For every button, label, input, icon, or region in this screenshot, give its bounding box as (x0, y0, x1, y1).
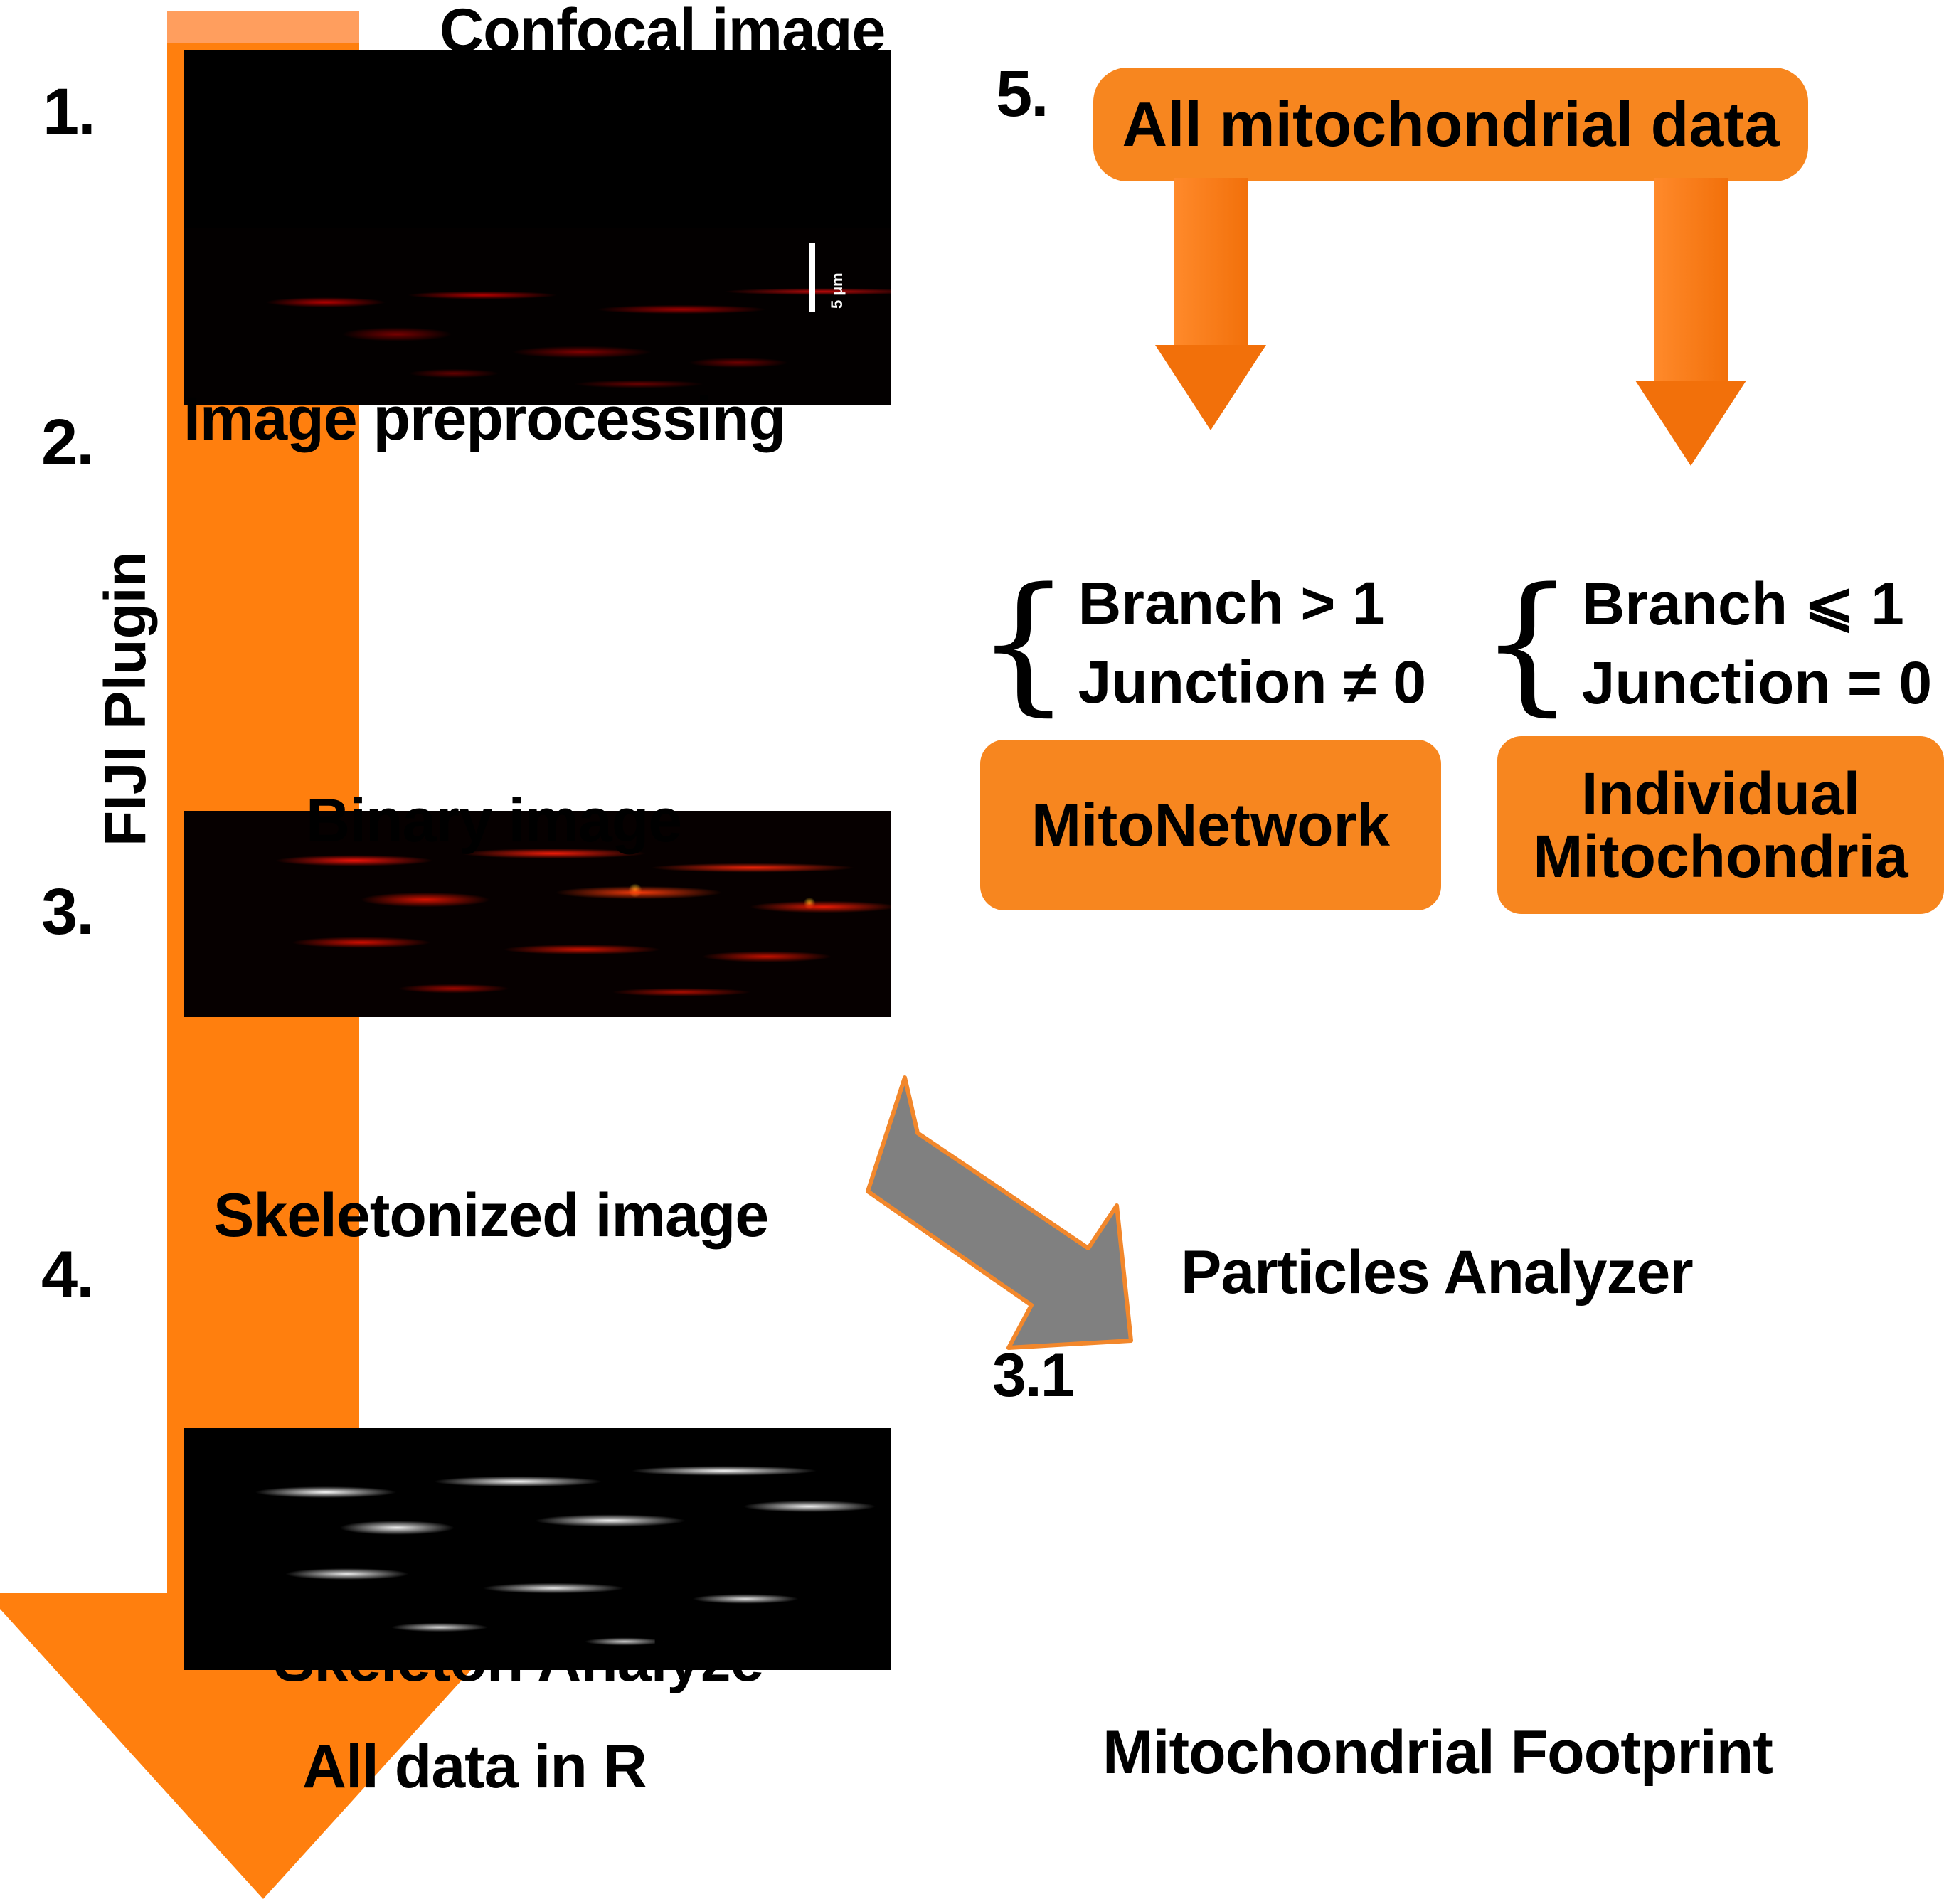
confocal-image-panel (184, 50, 891, 228)
curly-brace-icon: { (976, 580, 1071, 707)
branch-right-conditions: { Branch ⩽ 1 Junction = 0 (1480, 569, 1932, 718)
branch-right-condition-1: Branch ⩽ 1 (1582, 569, 1932, 639)
individual-mitochondria-line-2: Mitochondria (1533, 825, 1908, 888)
particles-analyzer-label: Particles Analyzer (1181, 1238, 1693, 1308)
binary-to-particles-arrow (839, 1056, 1280, 1362)
individual-mitochondria-line-1: Individual (1581, 762, 1860, 825)
step-3-1-number: 3.1 (992, 1341, 1073, 1411)
individual-mitochondria-box[interactable]: Individual Mitochondria (1497, 736, 1944, 914)
mitochondrial-footprint-label: Mitochondrial Footprint (1103, 1718, 1773, 1788)
scale-bar-label: 5 µm (828, 272, 846, 309)
figure-canvas: 1. Confocal image 5 µm 2. Image preproce… (0, 0, 1944, 1904)
fiji-plugin-label: FIJI Plugin (92, 551, 159, 846)
step-2-number: 2. (41, 405, 93, 480)
branch-left-condition-2: Junction ≠ 0 (1078, 648, 1426, 717)
step-1-number: 1. (43, 75, 95, 149)
skeleton-analyze-label: Skeleton Analyze (274, 1625, 763, 1696)
all-mitochondrial-data-box[interactable]: All mitochondrial data (1093, 68, 1808, 181)
branch-left-conditions: { Branch > 1 Junction ≠ 0 (976, 569, 1426, 717)
step-5-number: 5. (996, 57, 1048, 132)
all-data-in-r-label: All data in R (302, 1732, 647, 1802)
curly-brace-icon-2: { (1480, 580, 1575, 707)
step-3-number: 3. (41, 875, 93, 950)
branch-left-condition-1: Branch > 1 (1078, 569, 1426, 638)
step-4-number: 4. (41, 1238, 93, 1312)
branch-right-condition-2: Junction = 0 (1582, 649, 1932, 718)
step-3-title: Binary image (306, 786, 681, 856)
step-2-title: Image preprocessing (184, 384, 785, 454)
confocal-image: 5 µm (184, 228, 891, 405)
step-4-title: Skeletonized image (213, 1181, 768, 1251)
mitonetwork-box[interactable]: MitoNetwork (980, 740, 1441, 910)
